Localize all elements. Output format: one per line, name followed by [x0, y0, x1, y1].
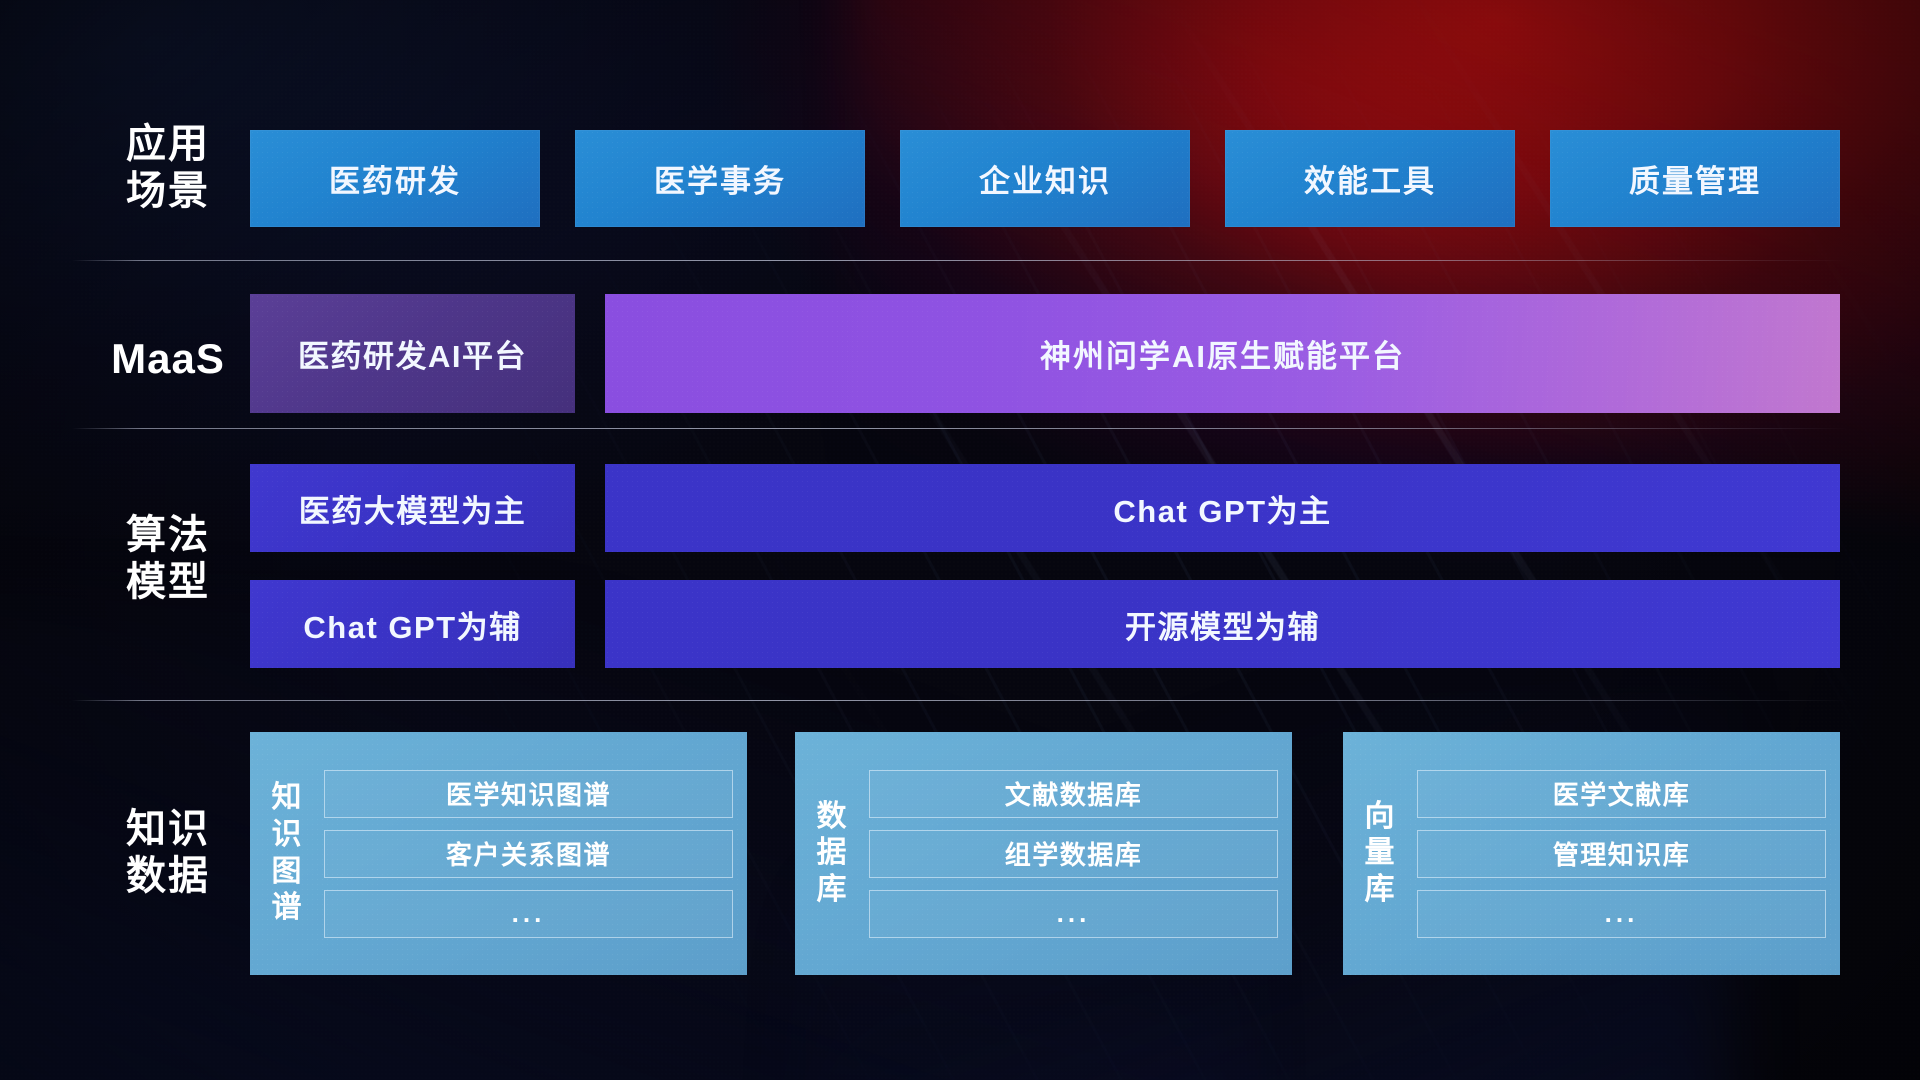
knowledge-label-char: 库	[817, 872, 848, 909]
tier-label-maas: MaaS	[88, 334, 248, 384]
knowledge-item[interactable]: 文献数据库	[869, 770, 1278, 818]
knowledge-item-more[interactable]: ...	[869, 890, 1278, 938]
knowledge-item[interactable]: 组学数据库	[869, 830, 1278, 878]
app-box-label: 医药研发	[329, 156, 461, 201]
tier-label-line1: 知识	[88, 806, 248, 853]
maas-right-box[interactable]: 神州问学AI原生赋能平台	[605, 294, 1840, 413]
tier-label-line2: 数据	[88, 853, 248, 900]
knowledge-label-char: 量	[1365, 835, 1396, 872]
diagram-content: 应用 场景 医药研发 医学事务 企业知识 效能工具 质量管理 MaaS 医药研发…	[0, 0, 1920, 1080]
knowledge-group-2[interactable]: 向 量 库 医学文献库 管理知识库 ...	[1343, 732, 1840, 975]
knowledge-label-char: 知	[272, 780, 303, 817]
knowledge-label-char: 图	[272, 854, 303, 891]
app-box-4[interactable]: 质量管理	[1550, 130, 1840, 227]
alg-box-label: Chat GPT为主	[1113, 486, 1331, 531]
tier-label-line2: 模型	[88, 559, 248, 606]
alg-box-label: 医药大模型为主	[299, 486, 527, 531]
knowledge-group-0-label: 知 识 图 谱	[250, 746, 324, 961]
app-box-2[interactable]: 企业知识	[900, 130, 1190, 227]
alg-row1-right-box[interactable]: 开源模型为辅	[605, 580, 1840, 668]
alg-box-label: Chat GPT为辅	[303, 602, 521, 647]
divider-2	[72, 428, 1848, 429]
knowledge-item[interactable]: 客户关系图谱	[324, 830, 733, 878]
app-box-label: 效能工具	[1304, 156, 1436, 201]
app-box-label: 医学事务	[654, 156, 786, 201]
app-box-1[interactable]: 医学事务	[575, 130, 865, 227]
knowledge-item[interactable]: 医学知识图谱	[324, 770, 733, 818]
knowledge-group-2-items: 医学文献库 管理知识库 ...	[1417, 746, 1826, 961]
knowledge-group-0[interactable]: 知 识 图 谱 医学知识图谱 客户关系图谱 ...	[250, 732, 747, 975]
knowledge-group-1-label: 数 据 库	[795, 746, 869, 961]
alg-row0-left-box[interactable]: 医药大模型为主	[250, 464, 575, 552]
knowledge-group-1-items: 文献数据库 组学数据库 ...	[869, 746, 1278, 961]
knowledge-group-0-items: 医学知识图谱 客户关系图谱 ...	[324, 746, 733, 961]
knowledge-group-2-label: 向 量 库	[1343, 746, 1417, 961]
divider-3	[72, 700, 1848, 701]
tier-label-algorithm-model: 算法 模型	[88, 512, 248, 606]
knowledge-label-char: 数	[817, 799, 848, 836]
knowledge-item-more[interactable]: ...	[324, 890, 733, 938]
app-box-label: 质量管理	[1629, 156, 1761, 201]
tier-label-line1: 应用	[88, 121, 248, 168]
knowledge-label-char: 谱	[272, 890, 303, 927]
knowledge-label-char: 识	[272, 817, 303, 854]
app-box-0[interactable]: 医药研发	[250, 130, 540, 227]
knowledge-label-char: 库	[1365, 872, 1396, 909]
tier-label-line2: 场景	[88, 168, 248, 215]
divider-1	[72, 260, 1848, 261]
knowledge-label-char: 向	[1365, 799, 1396, 836]
alg-box-label: 开源模型为辅	[1125, 602, 1320, 647]
maas-left-label: 医药研发AI平台	[298, 331, 527, 376]
knowledge-item-more[interactable]: ...	[1417, 890, 1826, 938]
tier-label-application-scenario: 应用 场景	[88, 121, 248, 215]
maas-right-label: 神州问学AI原生赋能平台	[1040, 331, 1405, 376]
tier-label-text: MaaS	[88, 334, 248, 384]
tier-label-line1: 算法	[88, 512, 248, 559]
app-box-label: 企业知识	[979, 156, 1111, 201]
knowledge-group-1[interactable]: 数 据 库 文献数据库 组学数据库 ...	[795, 732, 1292, 975]
knowledge-item[interactable]: 医学文献库	[1417, 770, 1826, 818]
knowledge-label-char: 据	[817, 835, 848, 872]
alg-row0-right-box[interactable]: Chat GPT为主	[605, 464, 1840, 552]
tier-label-knowledge-data: 知识 数据	[88, 806, 248, 900]
app-box-3[interactable]: 效能工具	[1225, 130, 1515, 227]
alg-row1-left-box[interactable]: Chat GPT为辅	[250, 580, 575, 668]
maas-left-box[interactable]: 医药研发AI平台	[250, 294, 575, 413]
knowledge-item[interactable]: 管理知识库	[1417, 830, 1826, 878]
